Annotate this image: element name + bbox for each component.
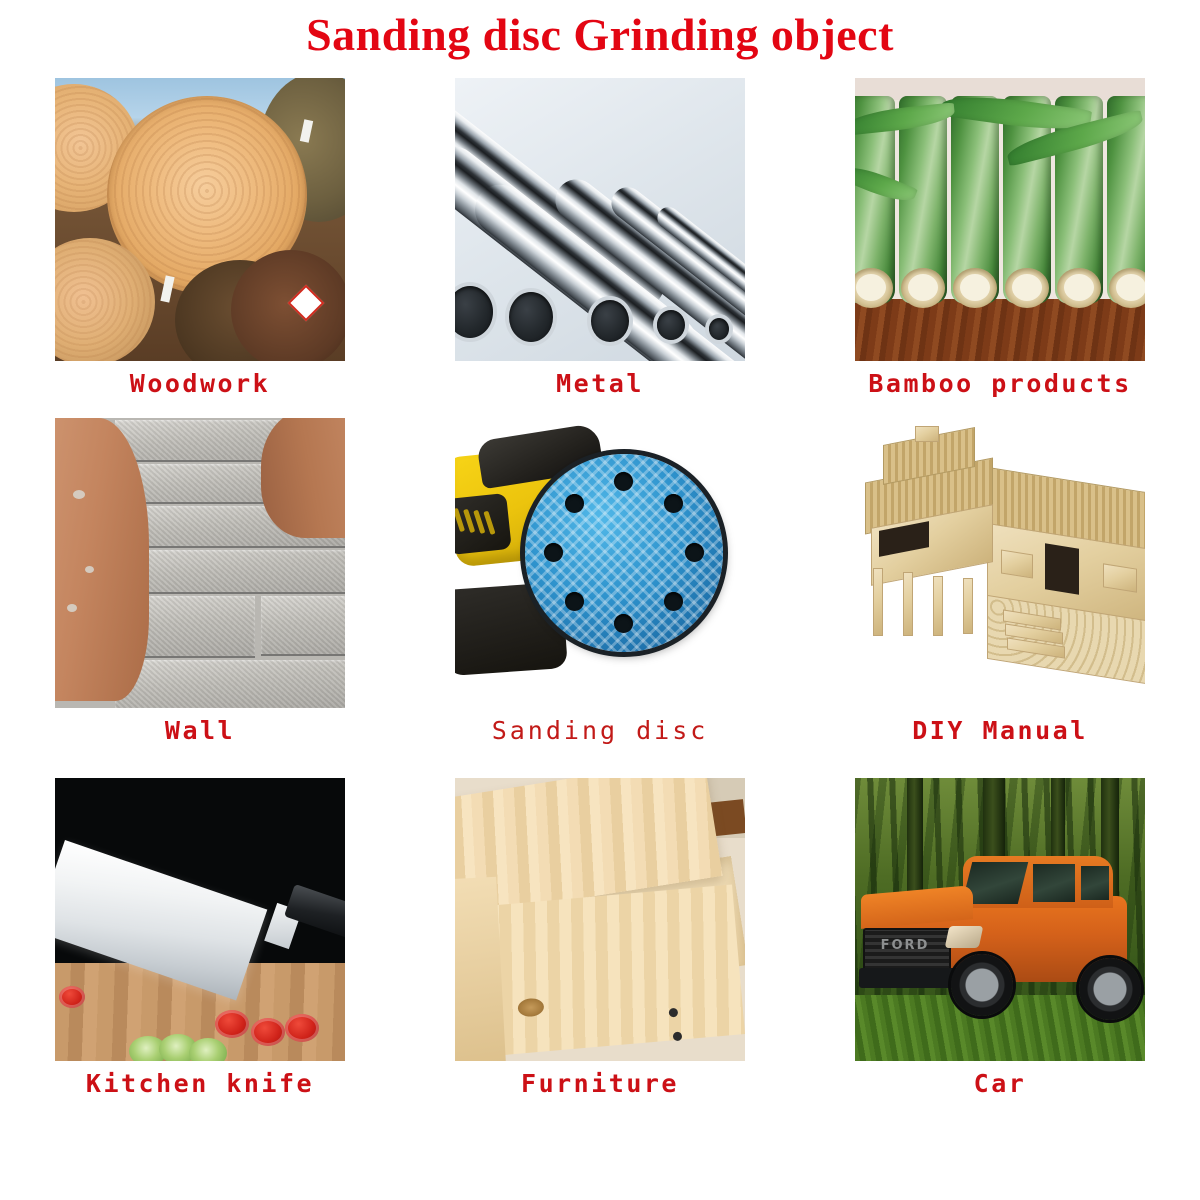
screw (669, 1008, 679, 1018)
bamboo-photo (855, 78, 1145, 361)
worker-hand-left (55, 418, 149, 701)
tomato-slice (285, 1014, 319, 1042)
bamboo-backdrop (855, 78, 1145, 100)
dust-hole (614, 472, 633, 491)
sander-side-grip (455, 493, 512, 555)
screw (673, 1031, 683, 1041)
side-window (1033, 864, 1075, 902)
drawer-front (463, 885, 745, 1058)
model-roof-finial (915, 426, 939, 442)
dust-hole (664, 592, 683, 611)
vent-slot (483, 511, 495, 535)
caption-car: Car (974, 1071, 1027, 1096)
caption-kitchen-knife: Kitchen knife (86, 1071, 314, 1096)
caption-furniture: Furniture (521, 1071, 679, 1096)
model-window (1001, 549, 1033, 578)
dust-hole (614, 614, 633, 633)
kitchen-knife-photo (55, 778, 345, 1061)
grid-cell-car: FORD Car (800, 778, 1200, 1133)
stone-brick (261, 596, 345, 654)
stone-brick (115, 550, 345, 592)
model-stilt (903, 572, 913, 636)
wood-knot (517, 997, 544, 1017)
grille-brand-text: FORD (867, 938, 943, 953)
dust-hole (685, 543, 704, 562)
stone-brick (115, 660, 345, 708)
bamboo-opening (901, 268, 945, 308)
caption-bamboo-products: Bamboo products (868, 371, 1131, 396)
pipe-opening (709, 318, 729, 340)
dust-hole (565, 494, 584, 513)
mortar-splatter (85, 566, 94, 573)
bamboo-opening (953, 268, 997, 308)
bamboo-opening (1057, 268, 1101, 308)
pipe-opening (591, 300, 629, 342)
mortar-splatter (67, 604, 77, 612)
model-stilt (873, 568, 883, 636)
grid-cell-woodwork: Woodwork (0, 78, 400, 418)
sanding-disc-photo (455, 418, 745, 708)
model-doorway (1045, 543, 1079, 594)
infographic-page: Sanding disc Grinding object Woodwork (0, 0, 1200, 1200)
page-title: Sanding disc Grinding object (0, 8, 1200, 61)
grid-cell-kitchen-knife: Kitchen knife (0, 778, 400, 1133)
grid-cell-sanding-disc: Sanding disc (400, 418, 800, 778)
cleaver-handle (284, 884, 345, 946)
grid-cell-wall: Wall (0, 418, 400, 778)
cucumber-slice (189, 1038, 227, 1061)
wall-photo (55, 418, 345, 708)
car-photo: FORD (855, 778, 1145, 1061)
caption-diy-manual: DIY Manual (912, 718, 1088, 743)
blue-sanding-disc (525, 454, 723, 652)
front-wheel (951, 954, 1013, 1016)
bamboo-opening (855, 268, 893, 308)
tomato-slice (59, 986, 85, 1008)
pipe-opening (657, 310, 685, 340)
grid-cell-bamboo: Bamboo products (800, 78, 1200, 418)
rear-wheel (1079, 958, 1141, 1020)
pipe-opening (509, 292, 553, 342)
headlight (945, 926, 984, 948)
rear-window (1081, 866, 1109, 900)
caption-metal: Metal (556, 371, 644, 396)
mortar-splatter (73, 490, 85, 499)
dust-hole (544, 543, 563, 562)
bamboo-cane (951, 96, 999, 304)
bamboo-opening (1005, 268, 1049, 308)
diy-manual-photo (855, 418, 1145, 708)
dust-hole (664, 494, 683, 513)
worker-hand-right (261, 418, 345, 538)
model-stilt (933, 576, 943, 636)
metal-photo (455, 78, 745, 361)
bamboo-opening (1109, 268, 1145, 308)
tomato-slice (215, 1010, 249, 1038)
dust-hole (565, 592, 584, 611)
furniture-photo (455, 778, 745, 1061)
image-grid: Woodwork Metal (0, 78, 1200, 1188)
model-stilt (963, 578, 973, 634)
log-bottom-right (231, 250, 345, 361)
pipe-opening (455, 286, 493, 338)
woodwork-photo (55, 78, 345, 361)
wooden-floor (855, 299, 1145, 361)
grid-cell-furniture: Furniture (400, 778, 800, 1133)
caption-woodwork: Woodwork (130, 371, 270, 396)
caption-wall: Wall (165, 718, 235, 743)
grid-cell-metal: Metal (400, 78, 800, 418)
tomato-slice (251, 1018, 285, 1046)
caption-sanding-disc: Sanding disc (492, 718, 709, 743)
grid-cell-diy-manual: DIY Manual (800, 418, 1200, 778)
